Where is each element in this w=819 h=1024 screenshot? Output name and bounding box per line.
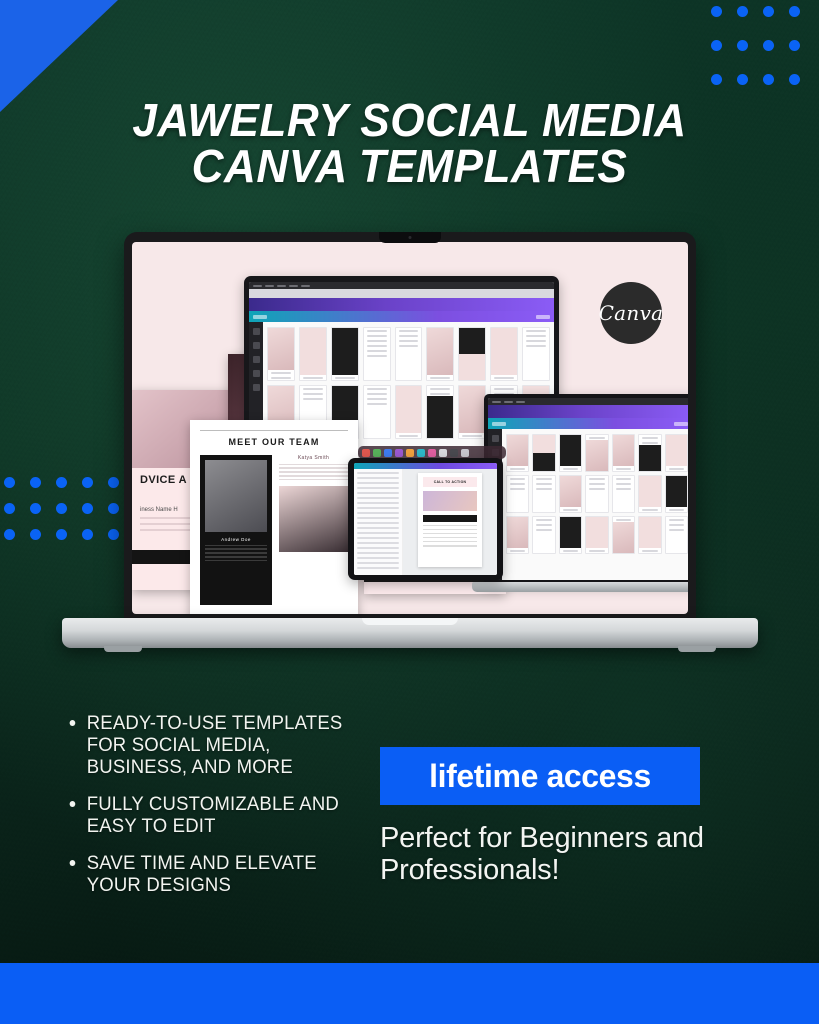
editor-menubar bbox=[249, 282, 554, 289]
template-card bbox=[267, 327, 295, 381]
bottom-accent-bar bbox=[0, 963, 819, 1024]
template-card bbox=[638, 475, 661, 513]
template-card bbox=[559, 475, 582, 513]
mockup-team-name-dark: Andrew Doe bbox=[205, 537, 267, 542]
mockup-image bbox=[205, 460, 267, 532]
editor-brand-bar bbox=[488, 405, 688, 418]
template-card bbox=[426, 327, 454, 381]
template-card bbox=[612, 516, 635, 554]
template-card bbox=[363, 385, 391, 439]
laptop-foot-left bbox=[104, 646, 142, 652]
template-grid bbox=[502, 429, 688, 580]
feature-list: Ready-to-use templates for social media,… bbox=[62, 712, 372, 911]
canva-editor-window-secondary bbox=[488, 398, 688, 580]
lifetime-access-badge: lifetime access bbox=[380, 747, 700, 805]
template-card bbox=[665, 434, 688, 472]
template-card bbox=[458, 385, 486, 439]
template-card bbox=[585, 434, 608, 472]
corner-triangle-accent bbox=[0, 0, 118, 112]
template-card bbox=[506, 475, 529, 513]
mockup-team-name-light: Katya Smith bbox=[279, 455, 348, 461]
template-card bbox=[458, 327, 486, 381]
editor-tabbar bbox=[249, 289, 554, 298]
editor-toolbar bbox=[488, 418, 688, 429]
laptop-lid: Canva DVICE A NG GU iness Name H CLIENT bbox=[124, 232, 696, 620]
mockup-image bbox=[423, 491, 477, 511]
tablet-document-canvas: CALL TO ACTION bbox=[403, 469, 497, 575]
template-card bbox=[585, 475, 608, 513]
template-card bbox=[331, 327, 359, 381]
tablet-body: CALL TO ACTION bbox=[354, 469, 497, 575]
laptop-screen: Canva DVICE A NG GU iness Name H CLIENT bbox=[132, 242, 688, 614]
list-item: Save time and elevate your designs bbox=[62, 852, 357, 896]
tablet-document-heading: CALL TO ACTION bbox=[423, 477, 477, 487]
mockup-team-card-dark: Andrew Doe bbox=[200, 455, 272, 605]
mockup-team-title: MEET OUR TEAM bbox=[200, 437, 348, 447]
template-card bbox=[559, 434, 582, 472]
template-card bbox=[506, 516, 529, 554]
tablet-sidebar bbox=[354, 469, 403, 575]
template-card bbox=[299, 327, 327, 381]
template-card bbox=[395, 327, 423, 381]
page-title-line-1: JAWELRY SOCIAL MEDIA bbox=[16, 97, 802, 143]
tagline-text: Perfect for Beginners and Professionals! bbox=[380, 822, 724, 886]
tablet-document-page: CALL TO ACTION bbox=[418, 473, 482, 567]
template-card bbox=[638, 516, 661, 554]
poster-canvas: JAWELRY SOCIAL MEDIA CANVA TEMPLATES Can… bbox=[0, 0, 819, 1024]
template-card bbox=[638, 434, 661, 472]
template-card bbox=[559, 516, 582, 554]
mockup-second-laptop-base bbox=[472, 582, 688, 592]
laptop-notch-camera bbox=[379, 232, 441, 243]
laptop-mockup: Canva DVICE A NG GU iness Name H CLIENT bbox=[62, 232, 758, 652]
template-card bbox=[665, 516, 688, 554]
template-card bbox=[532, 434, 555, 472]
template-card bbox=[426, 385, 454, 439]
mockup-team-columns: Andrew Doe Katya Smith bbox=[200, 455, 348, 605]
page-title: JAWELRY SOCIAL MEDIA CANVA TEMPLATES bbox=[16, 97, 802, 189]
mockup-second-laptop bbox=[484, 394, 688, 584]
template-card bbox=[612, 475, 635, 513]
mockup-team-card-light: Katya Smith bbox=[279, 455, 348, 605]
template-card bbox=[490, 327, 518, 381]
mockup-divider bbox=[200, 430, 348, 431]
template-card bbox=[612, 434, 635, 472]
template-card bbox=[532, 475, 555, 513]
lifetime-access-label: lifetime access bbox=[429, 758, 651, 795]
editor-body bbox=[488, 429, 688, 580]
template-card bbox=[585, 516, 608, 554]
tablet-screen: CALL TO ACTION bbox=[354, 463, 497, 575]
template-card bbox=[395, 385, 423, 439]
mockup-tablet: CALL TO ACTION bbox=[348, 458, 503, 580]
mockup-image bbox=[279, 486, 348, 552]
editor-brand-bar bbox=[249, 298, 554, 311]
list-item: Ready-to-use templates for social media,… bbox=[62, 712, 357, 778]
laptop-base bbox=[62, 618, 758, 648]
canva-logo: Canva bbox=[600, 282, 662, 344]
template-card bbox=[665, 475, 688, 513]
template-card bbox=[506, 434, 529, 472]
laptop-foot-right bbox=[678, 646, 716, 652]
mockup-cta-button bbox=[423, 515, 477, 522]
canva-logo-text: Canva bbox=[599, 301, 664, 325]
page-title-line-2: CANVA TEMPLATES bbox=[16, 143, 802, 189]
editor-menubar bbox=[488, 398, 688, 405]
template-card bbox=[363, 327, 391, 381]
template-card bbox=[522, 327, 550, 381]
list-item: Fully customizable and easy to edit bbox=[62, 793, 357, 837]
dot-grid-top-right bbox=[711, 6, 815, 108]
mockup-poster-team: MEET OUR TEAM Andrew Doe Katya Smith bbox=[190, 420, 358, 614]
template-card bbox=[532, 516, 555, 554]
editor-toolbar bbox=[249, 311, 554, 322]
